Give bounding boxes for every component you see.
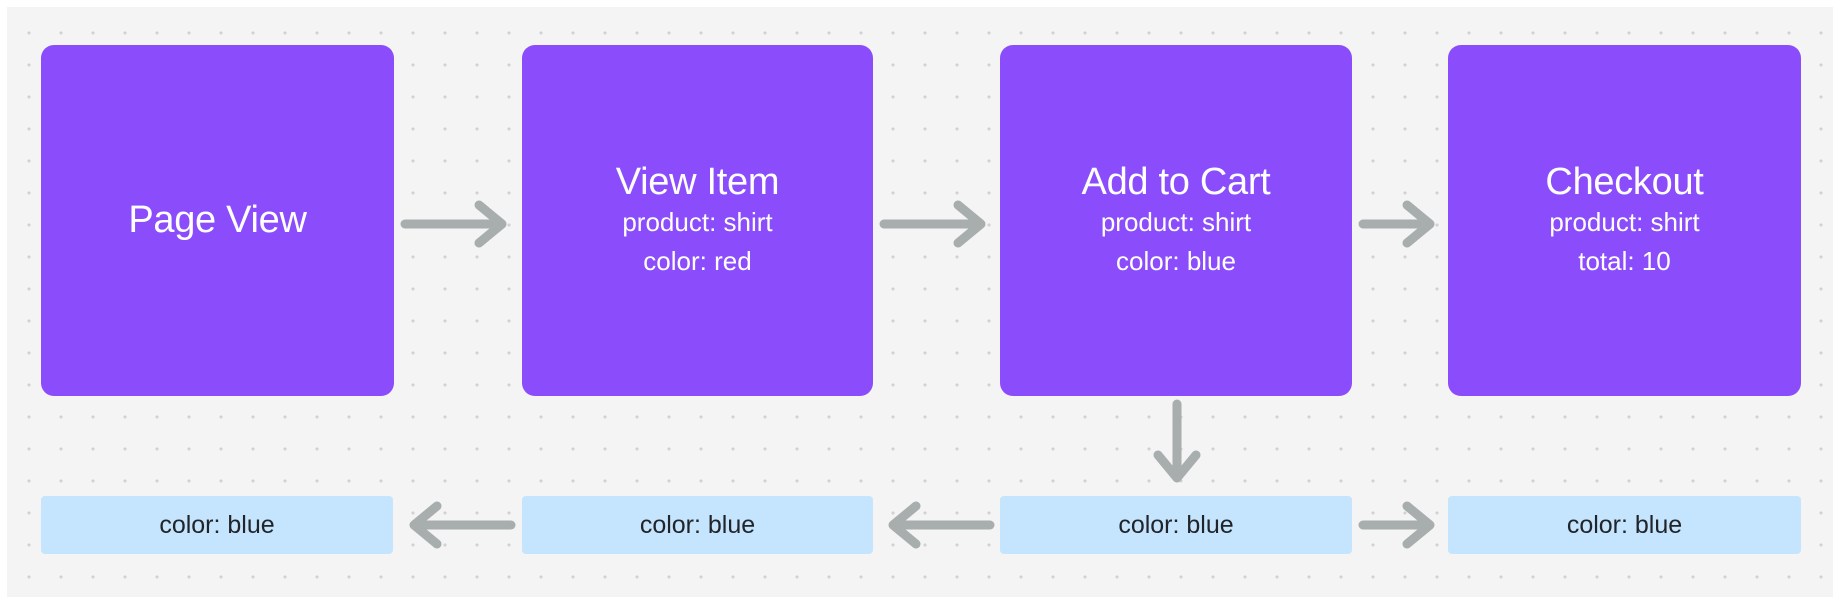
node-property: product: shirt	[1101, 203, 1251, 241]
chip-color-blue-2[interactable]: color: blue	[522, 496, 873, 554]
node-property: product: shirt	[1549, 203, 1699, 241]
node-title: Add to Cart	[1082, 161, 1271, 204]
arrow-left-icon-chip3-to-chip2	[882, 501, 992, 549]
node-title: Page View	[128, 199, 306, 242]
node-property: product: shirt	[622, 203, 772, 241]
arrow-right-icon-add-to-cart-to-checkout	[1361, 200, 1441, 248]
node-page-view[interactable]: Page View	[41, 45, 394, 396]
node-add-to-cart[interactable]: Add to Cart product: shirt color: blue	[1000, 45, 1352, 396]
chip-color-blue-4[interactable]: color: blue	[1448, 496, 1801, 554]
diagram-canvas[interactable]: Page View View Item product: shirt color…	[0, 0, 1840, 604]
arrow-right-icon-page-view-to-view-item	[403, 200, 513, 248]
chip-label: color: blue	[1118, 513, 1233, 538]
arrow-right-icon-view-item-to-add-to-cart	[882, 200, 992, 248]
chip-color-blue-3[interactable]: color: blue	[1000, 496, 1352, 554]
arrow-down-icon-add-to-cart-to-chip	[1153, 401, 1201, 487]
node-property: total: 10	[1578, 242, 1671, 280]
node-title: Checkout	[1545, 161, 1703, 204]
arrow-left-icon-chip2-to-chip1	[403, 501, 513, 549]
node-view-item[interactable]: View Item product: shirt color: red	[522, 45, 873, 396]
node-checkout[interactable]: Checkout product: shirt total: 10	[1448, 45, 1801, 396]
chip-label: color: blue	[1567, 513, 1682, 538]
node-property: color: red	[643, 242, 751, 280]
chip-label: color: blue	[159, 513, 274, 538]
node-title: View Item	[616, 161, 779, 204]
chip-color-blue-1[interactable]: color: blue	[41, 496, 393, 554]
node-property: color: blue	[1116, 242, 1236, 280]
arrow-right-icon-chip3-to-chip4	[1361, 501, 1441, 549]
chip-label: color: blue	[640, 513, 755, 538]
